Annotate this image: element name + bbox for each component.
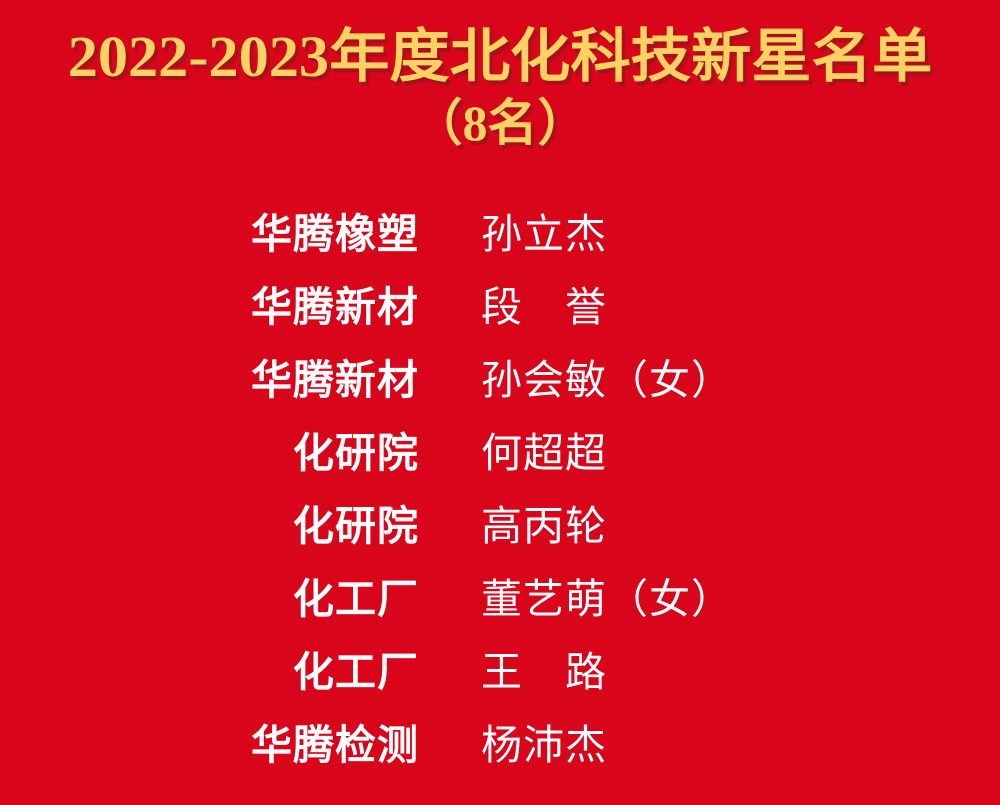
list-item: 化研院 高丙轮 — [0, 492, 1000, 565]
awardee-name: 杨沛杰 — [481, 711, 781, 771]
awardee-name: 孙立杰 — [481, 200, 781, 260]
awardee-name: 王 路 — [481, 638, 781, 698]
awardee-organization: 华腾橡塑 — [219, 200, 419, 260]
awardee-name: 高丙轮 — [481, 492, 781, 552]
title-main-line: 2022-2023年度北化科技新星名单 — [0, 28, 1000, 86]
awardee-name: 董艺萌（女） — [481, 565, 781, 625]
list-item: 华腾新材 段 誉 — [0, 273, 1000, 346]
awardee-list: 华腾橡塑 孙立杰 华腾新材 段 誉 华腾新材 孙会敏（女） 化研院 何超超 化研… — [0, 200, 1000, 784]
awardee-organization: 华腾新材 — [219, 346, 419, 406]
awardee-organization: 化研院 — [219, 492, 419, 552]
awardee-organization: 华腾新材 — [219, 273, 419, 333]
list-item: 华腾新材 孙会敏（女） — [0, 346, 1000, 419]
poster-root: 2022-2023年度北化科技新星名单 （8名） 华腾橡塑 孙立杰 华腾新材 段… — [0, 0, 1000, 805]
list-item: 华腾检测 杨沛杰 — [0, 711, 1000, 784]
poster-title: 2022-2023年度北化科技新星名单 （8名） — [0, 28, 1000, 148]
awardee-organization: 化工厂 — [219, 565, 419, 625]
awardee-organization: 华腾检测 — [219, 711, 419, 771]
awardee-organization: 化工厂 — [219, 638, 419, 698]
list-item: 化工厂 董艺萌（女） — [0, 565, 1000, 638]
awardee-organization: 化研院 — [219, 419, 419, 479]
awardee-name: 孙会敏（女） — [481, 346, 781, 406]
list-item: 化工厂 王 路 — [0, 638, 1000, 711]
awardee-name: 段 誉 — [481, 273, 781, 333]
list-item: 华腾橡塑 孙立杰 — [0, 200, 1000, 273]
awardee-name: 何超超 — [481, 419, 781, 479]
list-item: 化研院 何超超 — [0, 419, 1000, 492]
title-count-line: （8名） — [0, 98, 1000, 148]
